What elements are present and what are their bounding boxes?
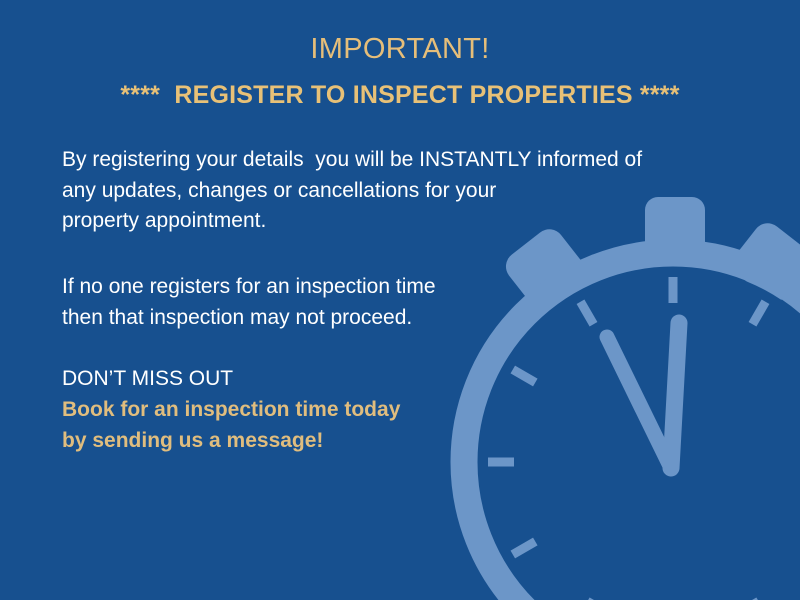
cta-dont-miss-out: DON’T MISS OUT xyxy=(62,363,722,394)
paragraph-line: If no one registers for an inspection ti… xyxy=(62,272,722,303)
heading-important: IMPORTANT! xyxy=(0,30,800,68)
paragraph-line: any updates, changes or cancellations fo… xyxy=(62,176,722,207)
paragraph-registering-details: By registering your details you will be … xyxy=(62,145,722,237)
cta-send-message: by sending us a message! xyxy=(62,425,722,456)
paragraph-line: then that inspection may not proceed. xyxy=(62,303,722,334)
paragraph-line: property appointment. xyxy=(62,206,722,237)
call-to-action-block: DON’T MISS OUT Book for an inspection ti… xyxy=(62,363,722,456)
paragraph-no-registration-warning: If no one registers for an inspection ti… xyxy=(62,272,722,333)
heading-register: **** REGISTER TO INSPECT PROPERTIES **** xyxy=(0,77,800,113)
headings-block: IMPORTANT! **** REGISTER TO INSPECT PROP… xyxy=(0,30,800,113)
slide-canvas: IMPORTANT! **** REGISTER TO INSPECT PROP… xyxy=(0,0,800,600)
cta-book-inspection: Book for an inspection time today xyxy=(62,394,722,425)
slide-content: IMPORTANT! **** REGISTER TO INSPECT PROP… xyxy=(0,0,800,600)
paragraph-line: By registering your details you will be … xyxy=(62,145,722,176)
